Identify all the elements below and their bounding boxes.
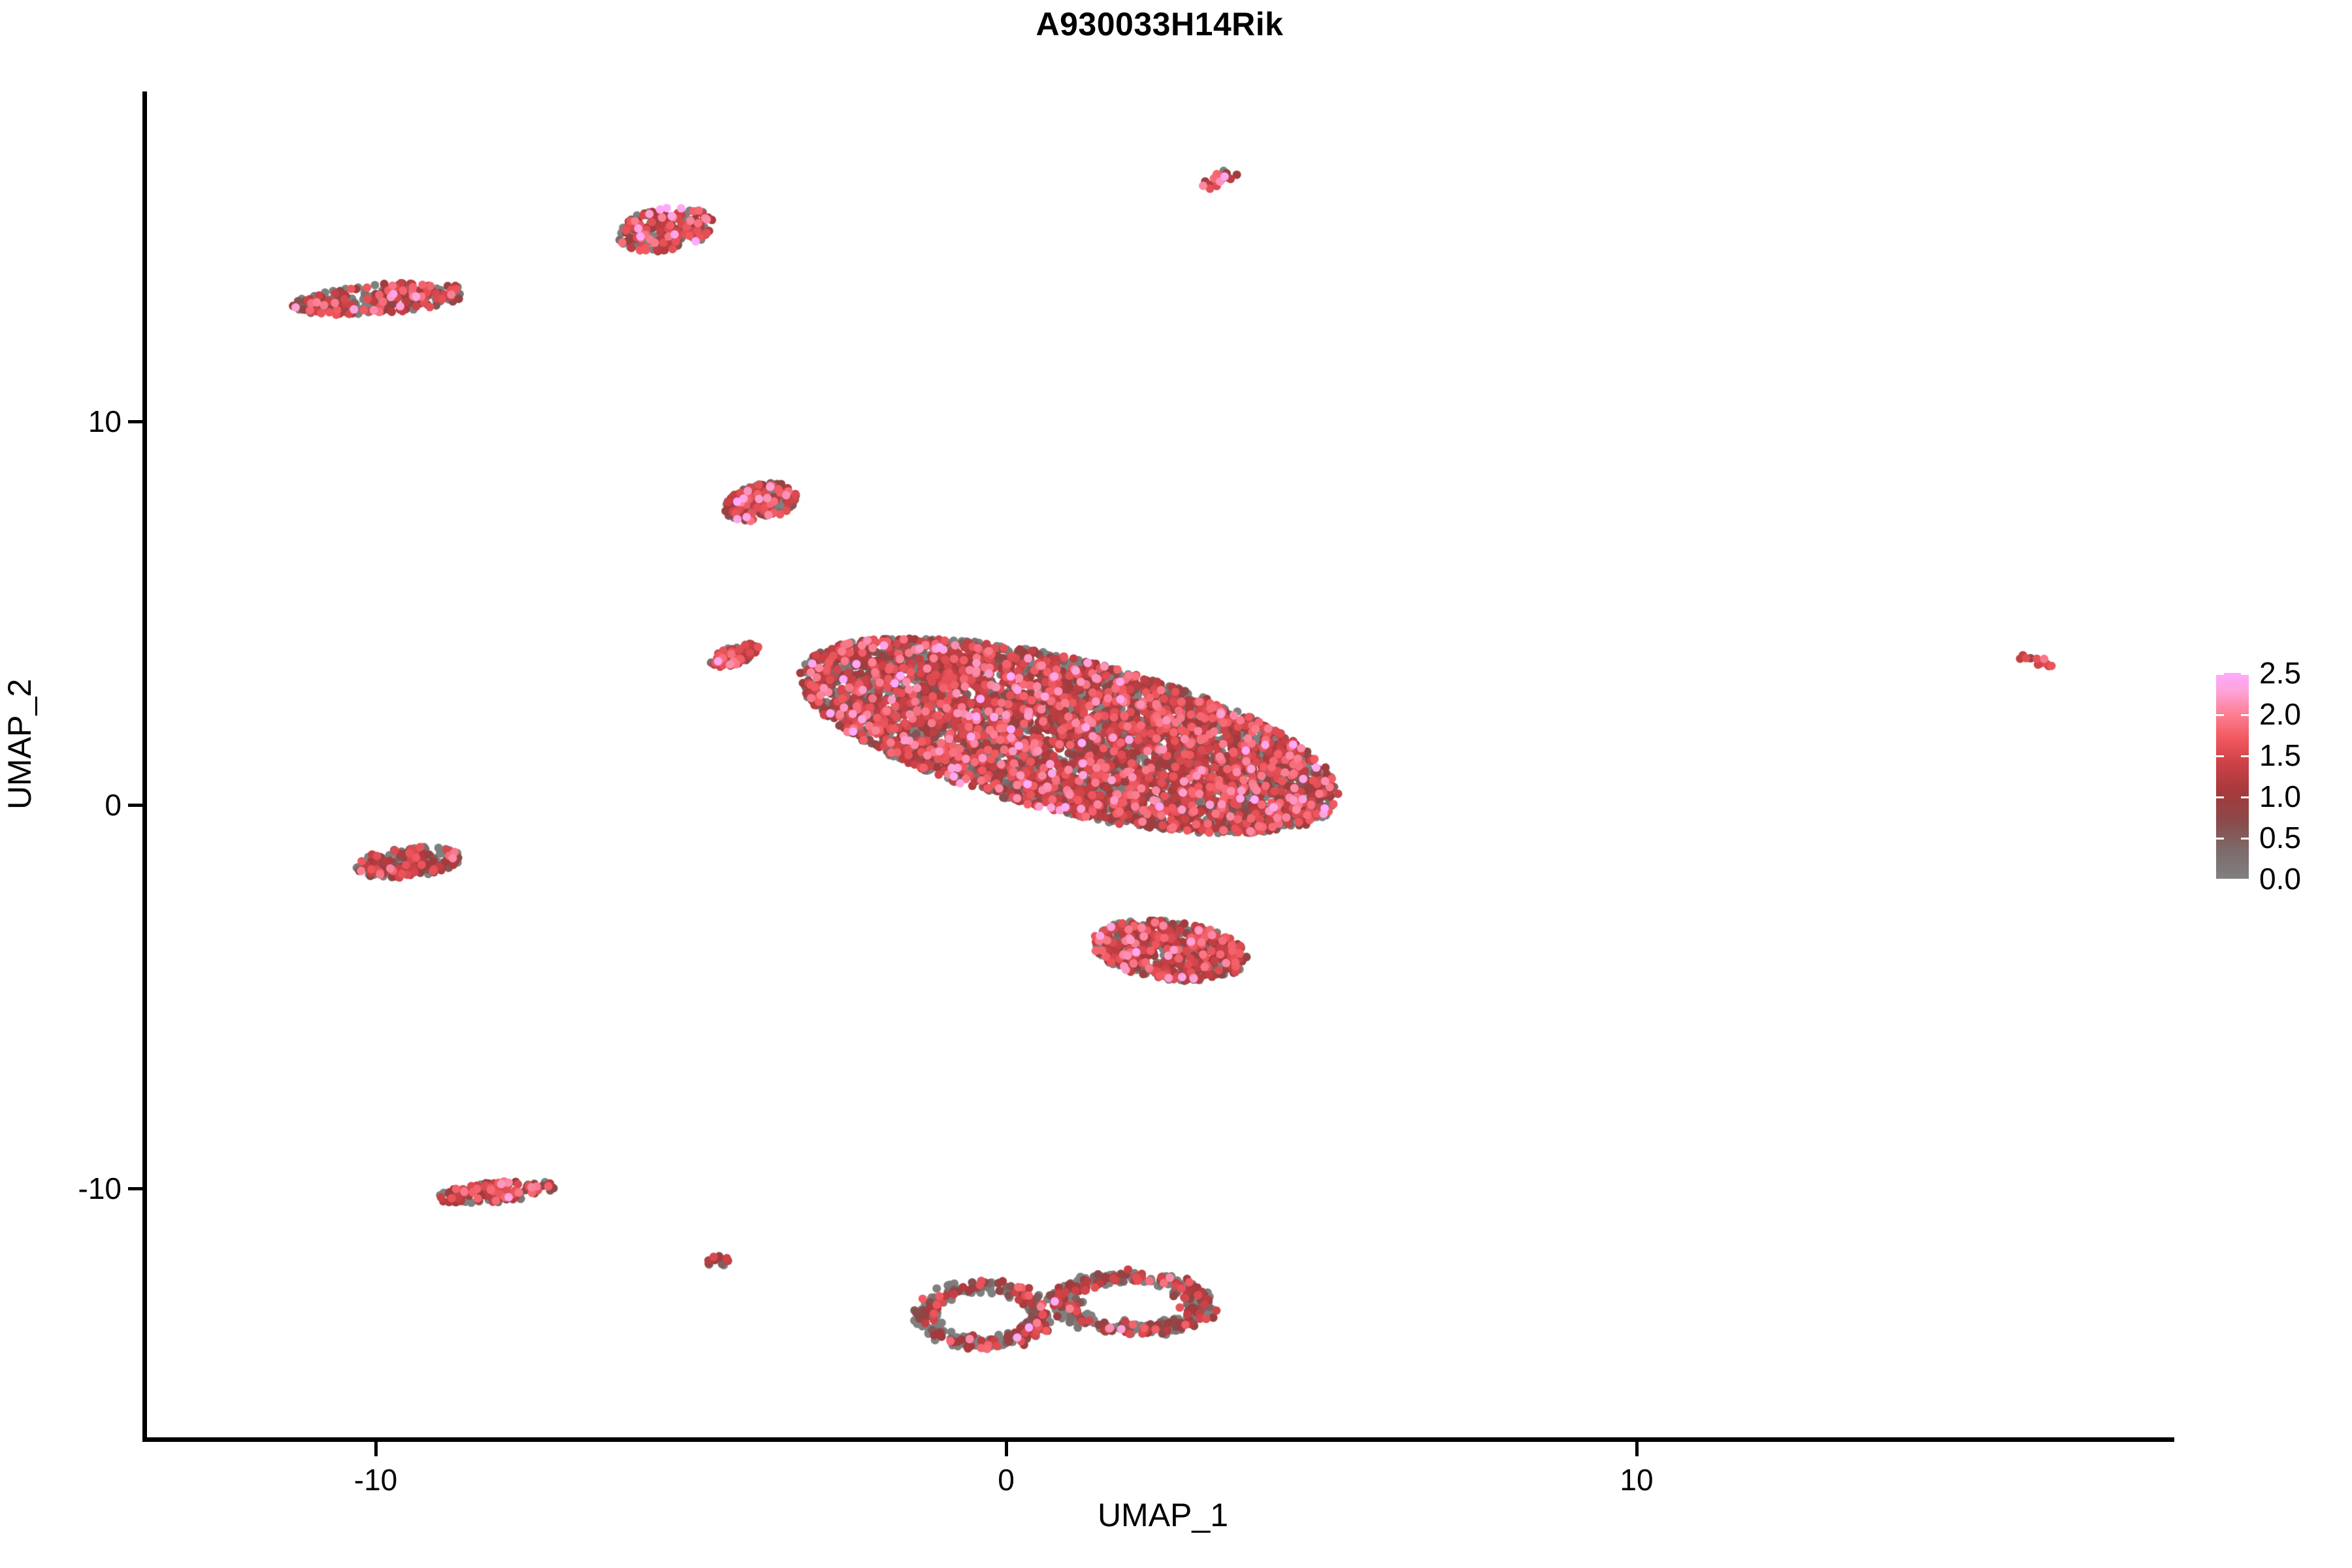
legend-label: 0.0	[2259, 861, 2301, 896]
legend-label: 2.0	[2259, 696, 2301, 732]
legend-tick	[2241, 673, 2249, 675]
legend-label: 0.5	[2259, 820, 2301, 855]
legend-tick	[2241, 879, 2249, 881]
y-axis-line	[142, 91, 147, 1441]
x-tick-label: 0	[998, 1462, 1015, 1497]
legend-tick	[2241, 796, 2249, 798]
legend-label: 2.5	[2259, 655, 2301, 691]
y-tick-label: 10	[88, 404, 122, 439]
legend-tick	[2216, 838, 2224, 840]
legend-tick	[2241, 755, 2249, 757]
y-tick-mark	[128, 804, 142, 807]
y-tick-label: -10	[78, 1171, 122, 1206]
legend-tick	[2216, 673, 2224, 675]
legend-colorbar	[2216, 673, 2249, 879]
legend-tick	[2216, 755, 2224, 757]
legend-tick	[2216, 714, 2224, 716]
x-axis-line	[142, 1437, 2174, 1442]
x-tick-label: -10	[354, 1462, 397, 1497]
x-axis-title: UMAP_1	[1019, 1496, 1307, 1534]
umap-feature-plot: A930033H14Rik -10010 100-10 UMAP_1 UMAP_…	[0, 0, 2352, 1568]
legend-tick	[2241, 838, 2249, 840]
y-tick-mark	[128, 420, 142, 423]
x-tick-label: 10	[1620, 1462, 1653, 1497]
x-tick-mark	[1635, 1442, 1639, 1456]
legend-tick	[2216, 879, 2224, 881]
scatter-plot-canvas	[0, 0, 2352, 1568]
color-legend: 2.52.01.51.00.50.0	[2216, 666, 2340, 889]
legend-label: 1.5	[2259, 738, 2301, 773]
y-tick-mark	[128, 1187, 142, 1190]
x-tick-mark	[1005, 1442, 1008, 1456]
legend-label: 1.0	[2259, 779, 2301, 814]
y-tick-label: 0	[105, 787, 122, 823]
x-tick-mark	[374, 1442, 378, 1456]
y-axis-title: UMAP_2	[1, 600, 39, 888]
legend-tick	[2241, 714, 2249, 716]
legend-tick	[2216, 796, 2224, 798]
